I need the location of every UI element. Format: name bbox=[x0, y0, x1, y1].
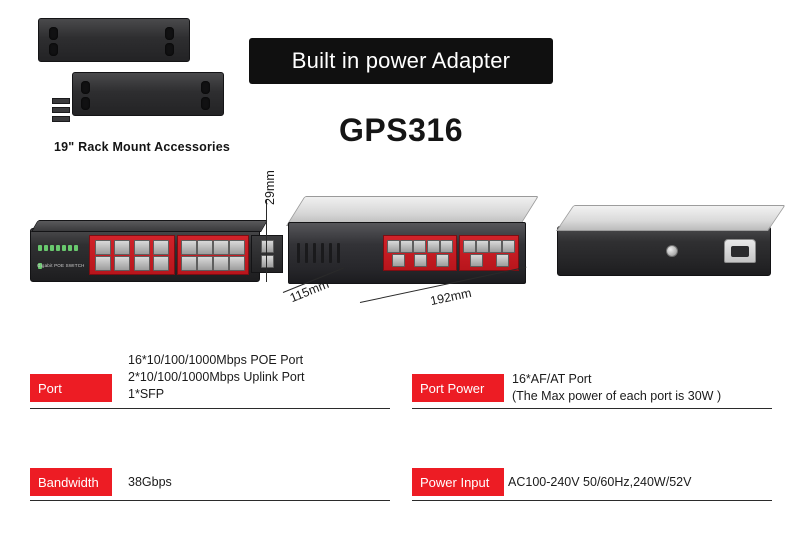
poe-port-block-b bbox=[459, 235, 519, 271]
poe-port bbox=[414, 254, 427, 267]
spec-divider-bandwidth bbox=[30, 500, 390, 501]
poe-port bbox=[413, 240, 426, 253]
screw-icon bbox=[666, 245, 678, 257]
rack-hole-icon bbox=[81, 81, 90, 94]
spec-divider-port-power bbox=[412, 408, 772, 409]
product-spec-poster: 19" Rack Mount Accessories Built in powe… bbox=[0, 0, 800, 557]
rack-hole-icon bbox=[49, 27, 58, 40]
poe-port bbox=[114, 256, 130, 271]
poe-port bbox=[463, 240, 476, 253]
dimension-width-label: 192mm bbox=[429, 286, 473, 308]
poe-port bbox=[153, 256, 169, 271]
poe-port bbox=[400, 240, 413, 253]
poe-port bbox=[502, 240, 515, 253]
uplink-port-block bbox=[251, 235, 283, 273]
rack-accessories-caption: 19" Rack Mount Accessories bbox=[22, 140, 262, 154]
poe-port bbox=[213, 256, 229, 271]
vent-slot bbox=[329, 243, 332, 263]
rack-bracket-tabs bbox=[52, 98, 68, 120]
poe-port bbox=[229, 240, 245, 255]
poe-port bbox=[436, 254, 449, 267]
rack-bracket-lower bbox=[72, 72, 224, 116]
poe-port bbox=[197, 256, 213, 271]
poe-port bbox=[114, 240, 130, 255]
rack-hole-icon bbox=[165, 43, 174, 56]
rack-hole-icon bbox=[165, 27, 174, 40]
poe-port bbox=[181, 256, 197, 271]
poe-port bbox=[392, 254, 405, 267]
vent-slot bbox=[321, 243, 324, 263]
vent-slot bbox=[337, 243, 340, 263]
product-rear-view bbox=[557, 226, 771, 276]
poe-port-block-a bbox=[89, 235, 175, 275]
rack-mount-accessories-group: 19" Rack Mount Accessories bbox=[32, 12, 242, 162]
led-indicator-strip bbox=[37, 239, 81, 257]
poe-port bbox=[95, 240, 111, 255]
dimension-height-label: 29mm bbox=[263, 170, 277, 205]
poe-port bbox=[387, 240, 400, 253]
spec-value-bandwidth: 38Gbps bbox=[128, 474, 378, 491]
spec-label-bandwidth: Bandwidth bbox=[30, 468, 112, 496]
product-front-view: Gigabit POE SWITCH bbox=[30, 228, 260, 282]
vent-slot bbox=[313, 243, 316, 263]
product-brand-label: Gigabit POE SWITCH bbox=[37, 263, 85, 268]
spec-value-port-power: 16*AF/AT Port (The Max power of each por… bbox=[512, 371, 772, 405]
poe-port bbox=[489, 240, 502, 253]
poe-port bbox=[496, 254, 509, 267]
dimension-line-height bbox=[266, 200, 267, 282]
spec-label-port-power: Port Power bbox=[412, 374, 504, 402]
poe-port bbox=[153, 240, 169, 255]
rack-hole-icon bbox=[201, 81, 210, 94]
poe-port bbox=[95, 256, 111, 271]
poe-port bbox=[476, 240, 489, 253]
product-angled-view bbox=[288, 222, 524, 282]
page-title: GPS316 bbox=[249, 112, 553, 149]
poe-port-block-a bbox=[383, 235, 457, 271]
poe-port bbox=[197, 240, 213, 255]
poe-port-block-b bbox=[177, 235, 249, 275]
product-top-surface-rear bbox=[556, 205, 786, 231]
rack-hole-icon bbox=[201, 97, 210, 110]
rack-hole-icon bbox=[81, 97, 90, 110]
spec-divider-port bbox=[30, 408, 390, 409]
title-banner: Built in power Adapter bbox=[249, 38, 553, 84]
rack-hole-icon bbox=[49, 43, 58, 56]
poe-port bbox=[134, 240, 150, 255]
spec-value-port: 16*10/100/1000Mbps POE Port 2*10/100/100… bbox=[128, 352, 378, 403]
uplink-port bbox=[261, 255, 274, 268]
spec-label-port: Port bbox=[30, 374, 112, 402]
poe-port bbox=[213, 240, 229, 255]
poe-port bbox=[470, 254, 483, 267]
poe-port bbox=[134, 256, 150, 271]
poe-port bbox=[427, 240, 440, 253]
poe-port bbox=[440, 240, 453, 253]
rack-bracket-upper bbox=[38, 18, 190, 62]
poe-port bbox=[181, 240, 197, 255]
spec-divider-power-input bbox=[412, 500, 772, 501]
uplink-port bbox=[261, 240, 274, 253]
banner-title-text: Built in power Adapter bbox=[292, 48, 510, 74]
vent-slot bbox=[297, 243, 300, 263]
spec-value-power-input: AC100-240V 50/60Hz,240W/52V bbox=[508, 474, 788, 491]
vent-slot bbox=[305, 243, 308, 263]
poe-port bbox=[229, 256, 245, 271]
spec-label-power-input: Power Input bbox=[412, 468, 504, 496]
product-top-surface bbox=[31, 220, 268, 232]
ac-power-socket-icon bbox=[724, 239, 756, 263]
